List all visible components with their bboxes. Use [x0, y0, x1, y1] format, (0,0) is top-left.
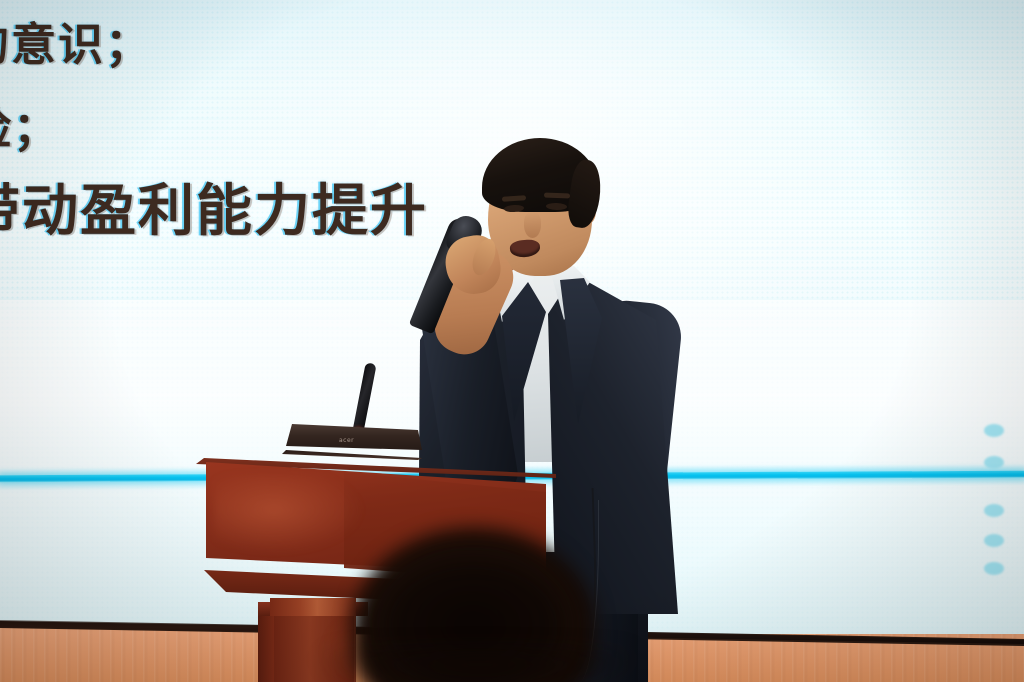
photo-scene: 的意识； 险； 带动盈利能力提升 [0, 0, 1024, 682]
lectern-highlight [214, 474, 364, 554]
decor-dot [984, 456, 1004, 469]
decor-dot [984, 424, 1004, 437]
speaker-eyebrow-right [544, 193, 570, 199]
slide-line-2: 险； [0, 92, 60, 157]
blurred-audience-shoulder [320, 650, 640, 682]
slide-line-1: 的意识； [0, 8, 152, 73]
decor-dot [984, 562, 1004, 575]
cyan-dot-column [984, 420, 1010, 570]
decor-dot [984, 504, 1004, 517]
speaker-nose [524, 212, 541, 238]
decor-dot [984, 534, 1004, 547]
slide-line-3: 带动盈利能力提升 [0, 166, 428, 247]
